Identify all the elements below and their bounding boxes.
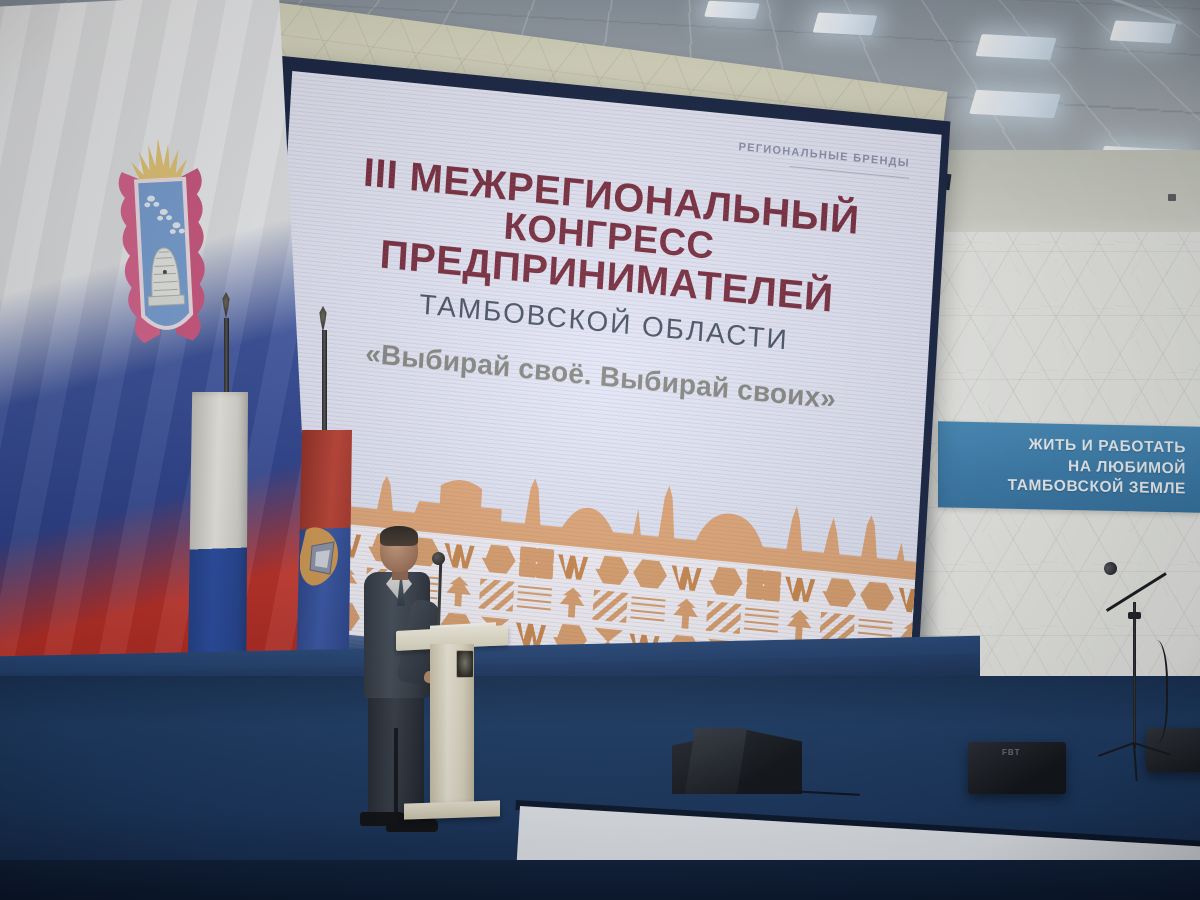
banner-line-3: ТАМБОВСКОЙ ЗЕМЛЕ [1008, 476, 1186, 500]
wall-slogan-banner: ЖИТЬ И РАБОТАТЬ НА ЛЮБИМОЙ ТАМБОВСКОЙ ЗЕ… [938, 421, 1200, 512]
ornament-motif-tree [668, 597, 704, 630]
ornament-motif-tree [441, 575, 477, 608]
floor-lower [0, 860, 1200, 900]
ornament-motif-hexo [594, 554, 630, 587]
speaker-person [356, 528, 430, 818]
ornament-motif-hex [632, 557, 668, 590]
tripod-leg [1134, 742, 1171, 756]
ornament-motif-w [670, 561, 706, 594]
ornament-motif-hex [859, 580, 895, 613]
ornament-motif-dots [519, 546, 555, 579]
ornament-motif-zig [706, 601, 742, 634]
speaker-shoe [386, 818, 438, 832]
ornament-motif-hexo [821, 576, 857, 609]
ornament-motif-tree [781, 608, 817, 641]
ornament-motif-tree [554, 586, 590, 619]
tambov-coat-of-arms [98, 127, 231, 383]
ceiling-light-panel [704, 1, 760, 20]
ornament-motif-stack [744, 604, 780, 637]
ornament-motif-zig [592, 590, 628, 623]
ornament-motif-w [557, 550, 593, 583]
tripod-leg [1098, 742, 1134, 757]
ceiling-light-panel [1110, 20, 1177, 43]
ceiling-light-panel [813, 12, 878, 35]
slide-kicker: РЕГИОНАЛЬНЫЕ БРЕНДЫ [738, 141, 910, 170]
ornament-motif-stack [517, 582, 553, 615]
speaker-hair [380, 526, 418, 546]
podium-base [404, 800, 500, 819]
ornament-motif-stack [630, 593, 666, 626]
banner-line-1: ЖИТЬ И РАБОТАТЬ [1029, 435, 1186, 459]
monitor-brand-label: FBT [1002, 748, 1028, 757]
ornament-motif-w [897, 583, 915, 616]
ornament-motif-zig [479, 578, 515, 611]
speaker-leg-split [394, 728, 398, 820]
ornament-motif-hexo [708, 565, 744, 598]
mic-stand-clamp [1128, 612, 1141, 619]
podium-microphone-icon [432, 552, 445, 565]
mic-stand-pole [1133, 602, 1136, 748]
stage-monitor-speaker-face [685, 728, 747, 794]
ornament-motif-w [784, 572, 820, 605]
podium-emblem-plaque [456, 650, 474, 678]
mic-cable [1140, 640, 1168, 744]
ornament-motif-hexo [481, 543, 517, 576]
banner-line-2: НА ЛЮБИМОЙ [1068, 457, 1186, 480]
conference-stage-photo: ЖИТЬ И РАБОТАТЬ НА ЛЮБИМОЙ ТАМБОВСКОЙ ЗЕ… [0, 0, 1200, 900]
ornament-motif-dots [746, 569, 782, 602]
ceiling-light-panel [975, 34, 1056, 60]
ceiling-light-panel [969, 90, 1061, 119]
flag-tambov-emblem [300, 520, 344, 606]
mic-stand-tripod-legs [1100, 742, 1170, 758]
wall-sensor-icon [1168, 194, 1176, 201]
ornament-motif-w [443, 539, 479, 572]
